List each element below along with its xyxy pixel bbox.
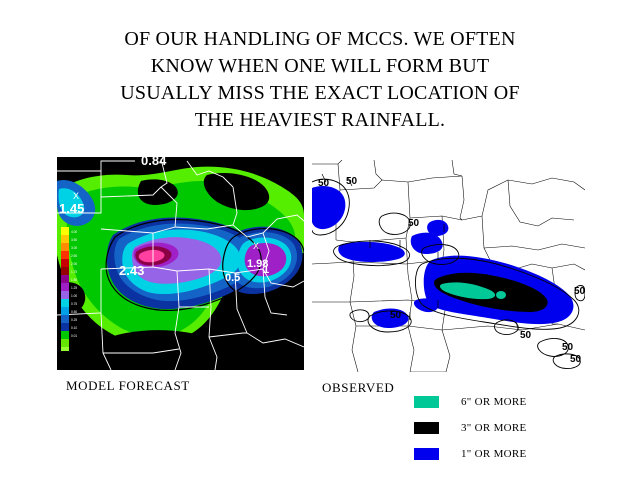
colorbar-tick-label: 3.00 bbox=[71, 246, 77, 250]
legend-label-three-inch: 3" OR MORE bbox=[461, 422, 527, 434]
contour-label-50: 50 bbox=[408, 218, 420, 229]
max-marker-nw: X bbox=[73, 191, 79, 201]
colorbar-tick-label: 1.25 bbox=[71, 286, 77, 290]
observed-map: 50 50 50 50 50 50 50 50 bbox=[312, 160, 585, 372]
legend-label-six-inch: 6" OR MORE bbox=[461, 396, 527, 408]
colorbar-tick-label: 0.50 bbox=[71, 310, 77, 314]
contour-label-50: 50 bbox=[570, 354, 582, 365]
colorbar-tick-label: 1.75 bbox=[71, 270, 77, 274]
title-line-1: OF OUR HANDLING OF MCCS. WE OFTEN bbox=[0, 26, 640, 53]
legend-row-three-inch: 3" OR MORE bbox=[414, 418, 594, 438]
contour-label-top: 0.84 bbox=[141, 157, 167, 168]
contour-label-east-one: 1 bbox=[263, 264, 269, 276]
legend-row-one-inch: 1" OR MORE bbox=[414, 444, 594, 464]
rainfall-6in-spot bbox=[496, 291, 506, 299]
colorbar-tick-label: 0.75 bbox=[71, 302, 77, 306]
contour-label-50: 50 bbox=[574, 286, 585, 297]
legend-swatch-one-inch bbox=[414, 448, 439, 460]
contour-label-50: 50 bbox=[390, 310, 402, 321]
colorbar-tick-label: 3.50 bbox=[71, 238, 77, 242]
colorbar-tick-label: 4.00 bbox=[71, 230, 77, 234]
title-line-2: KNOW WHEN ONE WILL FORM BUT bbox=[0, 53, 640, 80]
model-forecast-figure: 4.00 3.50 3.00 2.50 2.00 1.75 1.50 1.25 … bbox=[57, 157, 304, 370]
legend-row-six-inch: 6" OR MORE bbox=[414, 392, 594, 412]
contour-label-east-half: 0.5 bbox=[225, 272, 240, 284]
max-value-nw: 1.45 bbox=[59, 201, 84, 216]
colorbar-tick-label: 0.01 bbox=[71, 334, 77, 338]
colorbar-tick-label: 1.00 bbox=[71, 294, 77, 298]
model-forecast-map: 4.00 3.50 3.00 2.50 2.00 1.75 1.50 1.25 … bbox=[57, 157, 304, 370]
caption-observed: OBSERVED bbox=[322, 380, 394, 396]
colorbar-tick-label: 2.00 bbox=[71, 262, 77, 266]
contour-label-50: 50 bbox=[520, 330, 532, 341]
caption-model-forecast: MODEL FORECAST bbox=[66, 378, 190, 394]
title-line-3: USUALLY MISS THE EXACT LOCATION OF bbox=[0, 80, 640, 107]
colorbar-tick-label: 1.50 bbox=[71, 278, 77, 282]
max-marker-east: X bbox=[253, 241, 259, 251]
legend-label-one-inch: 1" OR MORE bbox=[461, 448, 527, 460]
colorbar-tick-label: 0.10 bbox=[71, 326, 77, 330]
legend-swatch-six-inch bbox=[414, 396, 439, 408]
page-title: OF OUR HANDLING OF MCCS. WE OFTEN KNOW W… bbox=[0, 26, 640, 134]
contour-label-50: 50 bbox=[562, 342, 574, 353]
contour-label-50: 50 bbox=[346, 176, 358, 187]
max-value-west: 2.43 bbox=[119, 263, 144, 278]
colorbar-tick-label: 0.25 bbox=[71, 318, 77, 322]
rainfall-legend: 6" OR MORE 3" OR MORE 1" OR MORE bbox=[414, 392, 594, 470]
contour-label-50: 50 bbox=[318, 178, 330, 189]
observed-figure: 50 50 50 50 50 50 50 50 bbox=[312, 160, 585, 372]
colorbar-tick-label: 2.50 bbox=[71, 254, 77, 258]
title-line-4: THE HEAVIEST RAINFALL. bbox=[0, 107, 640, 134]
legend-swatch-three-inch bbox=[414, 422, 439, 434]
